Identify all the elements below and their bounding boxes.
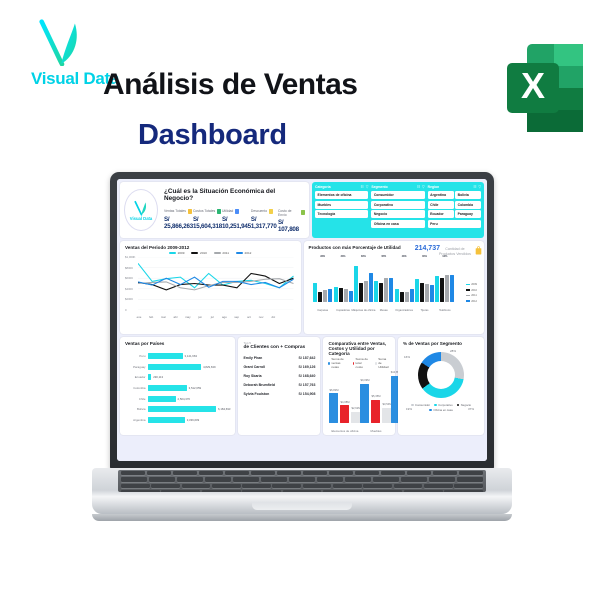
bar: 58% xyxy=(389,278,393,302)
compare-group: $6,82M$4,08M$2,62MElementos de oficina xyxy=(329,357,360,423)
bar: 45% xyxy=(379,283,383,302)
laptop-keyboard xyxy=(118,470,486,492)
keyboard-key xyxy=(444,490,483,492)
kpi-value: S/ 15,604,318 xyxy=(193,216,222,230)
keyboard-key xyxy=(323,490,362,492)
x-axis-tick: abr xyxy=(174,315,178,319)
dashboard-logo-text: Visual Data xyxy=(130,216,153,221)
keyboard-key xyxy=(283,490,322,492)
visual-data-mark-icon xyxy=(34,18,90,66)
bar-group: 46%25%28%32%Carpetas xyxy=(313,259,333,302)
country-bar xyxy=(148,417,185,423)
bar: 64% xyxy=(445,275,449,302)
bar: 58% xyxy=(384,278,388,302)
keyboard-key xyxy=(394,484,423,488)
country-label: Paraguay xyxy=(125,365,148,369)
poster-title: Análisis de Ventas xyxy=(103,68,357,102)
kpi-list: Ventas Totales S/ 25,866,263 Costos Tota… xyxy=(164,209,305,233)
keyboard-key xyxy=(225,471,249,475)
x-axis-tick: ago xyxy=(222,315,227,319)
keyboard-key xyxy=(289,477,315,481)
laptop-mockup: Visual Data ¿Cuál es la Situación Económ… xyxy=(92,172,512,532)
bar-group: 54%46%44%40%Tijeras xyxy=(414,259,434,302)
country-row: Ecuador290,113 xyxy=(125,372,230,383)
bar: 62% xyxy=(435,276,439,302)
legend-item: 2009 xyxy=(466,283,477,286)
slicer-item[interactable]: Argentina xyxy=(428,191,454,199)
bar-value: 32% xyxy=(320,255,325,258)
country-label: Chile xyxy=(125,397,148,401)
kpi-value: S/ 10,251,945 xyxy=(222,216,251,230)
keyboard-key xyxy=(121,471,145,475)
dashboard-logo-badge: Visual Data xyxy=(124,189,158,231)
kpi-item: Utilidad S/ 10,251,945 xyxy=(222,209,251,233)
keyboard-key xyxy=(373,477,399,481)
bar: 40% xyxy=(430,285,434,302)
slicer-title: Region xyxy=(428,185,440,189)
keyboard-key xyxy=(303,471,327,475)
dashboard-mid-row: Ventas del Periodo 2009-2012 20092010201… xyxy=(120,241,484,334)
keyboard-key xyxy=(345,477,371,481)
client-name: Emily Phan xyxy=(243,356,262,360)
country-row: Colombia3,512,659 xyxy=(125,383,230,394)
kpi-label: Utilidad xyxy=(222,209,233,213)
multiselect-icon[interactable]: ☷ xyxy=(417,185,420,189)
bar: 31% xyxy=(344,289,348,302)
bar: 50% xyxy=(374,281,378,302)
legend-item: 2009 xyxy=(169,251,184,255)
keyboard-key xyxy=(424,484,453,488)
keyboard-key xyxy=(121,477,147,481)
kpi-label: Ventas Totales xyxy=(164,209,186,213)
legend-item: 2012 xyxy=(236,251,251,255)
bar-group: 85%46%50%68%Máquinas de oficina xyxy=(353,259,373,302)
clear-filter-icon[interactable]: ▽ xyxy=(366,185,369,189)
country-row: Argentina3,339,609 xyxy=(125,415,230,426)
keyboard-key xyxy=(173,471,197,475)
bar: 58% xyxy=(440,278,444,302)
slicer-item[interactable]: Ecuador xyxy=(428,210,454,218)
slicer-item[interactable]: Oficina en casa xyxy=(371,220,424,228)
bar-value: 58% xyxy=(381,255,386,258)
bar: 50% xyxy=(364,281,368,302)
kpi-panel: Visual Data ¿Cuál es la Situación Económ… xyxy=(120,182,309,238)
client-name: Deborah Brumfield xyxy=(243,383,275,387)
countries-title: Ventas por Países xyxy=(125,341,230,346)
countries-panel: Ventas por Países Peru3,141,663Paraguay4… xyxy=(120,337,235,435)
bar: 44% xyxy=(425,284,429,302)
keyboard-key xyxy=(404,490,443,492)
keyboard-key xyxy=(251,471,275,475)
country-value: 2,504,376 xyxy=(176,397,190,401)
bar-value: 27% xyxy=(341,255,346,258)
visual-data-mark-icon xyxy=(133,200,150,216)
line-chart-panel: Ventas del Periodo 2009-2012 20092010201… xyxy=(120,241,301,334)
bar: 25% xyxy=(405,292,409,303)
keyboard-key xyxy=(149,477,175,481)
bar: 32% xyxy=(328,289,332,302)
keyboard-key xyxy=(333,484,362,488)
bar: 68% xyxy=(369,273,373,302)
segment-donut-panel: % de Ventas por Segmento ConsumidorCorpo… xyxy=(398,337,484,435)
keyboard-key xyxy=(121,484,150,488)
keyboard-key xyxy=(242,484,271,488)
country-bar xyxy=(148,385,187,391)
x-axis-tick: jun xyxy=(198,315,202,319)
bar: 24% xyxy=(400,292,404,302)
bar: 28% xyxy=(323,290,327,302)
bar-group: 62%58%64%64%Teléfonos xyxy=(435,259,455,302)
bar-group: 30%24%25%30%Organizadores xyxy=(394,259,414,302)
slicer-title: Categoría xyxy=(315,185,331,189)
grouped-bar-chart: 46%25%28%32%Carpetas36%34%31%27%Copiador… xyxy=(309,253,480,313)
x-axis-tick: mar xyxy=(161,315,166,319)
coin-icon xyxy=(188,209,192,214)
bar-group: 50%45%58%58%Mesas xyxy=(374,259,394,302)
slicer-item[interactable]: Negocio xyxy=(371,210,424,218)
compare-bar: $9,09M xyxy=(360,384,369,423)
bar: 30% xyxy=(395,289,399,302)
compare-bar: $3,54M xyxy=(382,408,391,423)
client-amount: S/ 169,126 xyxy=(299,365,316,369)
compare-bar: $2,62M xyxy=(351,412,360,423)
laptop-screen: Visual Data ¿Cuál es la Situación Económ… xyxy=(117,179,487,461)
donut-chart xyxy=(418,352,464,398)
bar-chart-panel: Productos con más Porcentaje de Utilidad… xyxy=(304,241,485,334)
compare-bar-value: $5,35M xyxy=(371,395,380,398)
slicer-item[interactable]: Colombia xyxy=(455,201,481,209)
country-value: 6,184,693 xyxy=(216,407,230,411)
legend-item: 2010 xyxy=(191,251,206,255)
bar: 27% xyxy=(349,291,353,302)
keyboard-key xyxy=(457,477,483,481)
y-axis-tick: 0 xyxy=(125,308,127,312)
slicer-region: Region ☷▽ Argentina Bolivia Chile Colomb… xyxy=(428,185,481,235)
compare-bar: $5,35M xyxy=(371,400,380,423)
client-amount: S/ 154,908 xyxy=(299,392,316,396)
keyboard-key xyxy=(329,471,353,475)
donut-value-label: 16% xyxy=(404,355,410,359)
compare-category-label: Elementos de oficina xyxy=(332,429,359,433)
kpi-item: Costos Totales S/ 15,604,318 xyxy=(193,209,222,233)
compare-category-label: Muebles xyxy=(370,429,381,433)
compare-bar-value: $3,54M xyxy=(382,403,391,406)
y-axis-tick: $600K xyxy=(125,276,133,280)
country-row: Chile2,504,376 xyxy=(125,393,230,404)
kpi-value: S/ 107,808 xyxy=(278,219,305,233)
client-name: Grant Carroll xyxy=(243,365,265,369)
x-axis-tick: may xyxy=(185,315,190,319)
laptop-foot xyxy=(92,514,512,521)
client-amount: S/ 157,763 xyxy=(299,383,316,387)
countries-bar-chart: Peru3,141,663Paraguay4,829,639Ecuador290… xyxy=(125,351,230,425)
slicer-segmento: Segmento ☷▽ Consumidor Corporativo Negoc… xyxy=(371,185,424,235)
bar-chart-legend: 2009201020112012 xyxy=(466,283,477,303)
donut-value-label: 37% xyxy=(468,407,474,411)
compare-panel: Comparativa entre Ventas, Costos y Utili… xyxy=(323,337,395,435)
clear-filter-icon[interactable]: ▽ xyxy=(478,185,481,189)
kpi-label: Costos Totales xyxy=(193,209,215,213)
y-axis-tick: $400K xyxy=(125,287,133,291)
svg-text:X: X xyxy=(521,65,545,106)
dashboard: Visual Data ¿Cuál es la Situación Económ… xyxy=(117,179,487,461)
bar-value: 64% xyxy=(442,255,447,258)
compare-group: $9,09M$5,35M$3,54MMuebles xyxy=(360,357,391,423)
slicer-item[interactable]: Chile xyxy=(428,201,454,209)
country-value: 4,829,639 xyxy=(201,365,215,369)
kpi-value: S/ 1,317,770 xyxy=(251,216,278,230)
tag-icon xyxy=(269,209,273,214)
country-bar xyxy=(148,364,201,370)
line-chart-title: Ventas del Periodo 2009-2012 xyxy=(125,245,296,250)
donut-value-label: 28% xyxy=(450,349,456,353)
country-label: Peru xyxy=(125,354,148,358)
bar: 54% xyxy=(415,279,419,302)
bar: 46% xyxy=(420,283,424,302)
y-axis-tick: $1,000K xyxy=(125,255,135,259)
legend-item: 2011 xyxy=(214,251,229,255)
keyboard-key xyxy=(177,477,203,481)
country-row: Bolivia6,184,693 xyxy=(125,404,230,415)
compare-bar-value: $9,09M xyxy=(360,379,369,382)
keyboard-key xyxy=(429,477,455,481)
country-label: Argentina xyxy=(125,418,148,422)
bar: 36% xyxy=(334,287,338,302)
keyboard-key xyxy=(121,490,160,492)
keyboard-key xyxy=(205,477,231,481)
keyboard-key xyxy=(277,471,301,475)
keyboard-key xyxy=(303,484,332,488)
keyboard-key xyxy=(401,477,427,481)
poster-subtitle: Dashboard xyxy=(138,119,287,152)
keyboard-key xyxy=(381,471,405,475)
country-bar xyxy=(148,406,216,412)
bar: 64% xyxy=(450,275,454,302)
legend-item: 2010 xyxy=(466,289,477,292)
line-chart-legend: 2009201020112012 xyxy=(125,251,296,255)
bar: 46% xyxy=(359,283,363,302)
compare-bar: $4,08M xyxy=(340,405,349,423)
country-bar xyxy=(148,353,183,359)
compare-bar-value: $6,82M xyxy=(329,389,338,392)
kpi-label: Costo de Envío xyxy=(278,209,299,217)
keyboard-key xyxy=(151,484,180,488)
legend-item: Consumidor xyxy=(411,403,430,407)
keyboard-key xyxy=(317,477,343,481)
country-row: Paraguay4,829,639 xyxy=(125,362,230,373)
keyboard-key xyxy=(454,484,483,488)
bar: 30% xyxy=(410,289,414,302)
compare-bar-value: $4,08M xyxy=(340,401,349,404)
bar: 85% xyxy=(354,266,358,302)
top-client-row: Roy SkariaS/ 168,640 xyxy=(243,371,315,380)
bar-group: 36%34%31%27%Copiadoras xyxy=(333,259,353,302)
laptop-trackpad xyxy=(252,502,352,510)
slicer-item[interactable]: Corporativo xyxy=(371,201,424,209)
legend-item: 2012 xyxy=(466,300,477,303)
bar: 46% xyxy=(313,283,317,302)
dashboard-bottom-row: Ventas por Países Peru3,141,663Paraguay4… xyxy=(120,337,484,435)
keyboard-key xyxy=(233,477,259,481)
country-value: 3,141,663 xyxy=(183,354,197,358)
keyboard-key xyxy=(433,471,457,475)
kpi-item: Descuento S/ 1,317,770 xyxy=(251,209,278,233)
slicer-title: Segmento xyxy=(371,185,387,189)
top-clients-title: de Clientes con + Compras xyxy=(243,345,315,350)
gift-icon xyxy=(235,209,239,214)
x-axis-tick: jul xyxy=(211,315,214,319)
slicer-item[interactable]: Elementos de oficina xyxy=(315,191,368,199)
bar-category-label: Teléfonos xyxy=(432,309,458,312)
slicer-item[interactable]: Peru xyxy=(428,220,481,228)
slicer-item[interactable]: Paraguay xyxy=(455,210,481,218)
x-axis-tick: oct xyxy=(247,315,251,319)
y-axis-tick: $200K xyxy=(125,297,133,301)
keyboard-key xyxy=(363,484,392,488)
keyboard-key xyxy=(459,471,483,475)
country-bar xyxy=(148,396,176,402)
client-amount: S/ 168,640 xyxy=(299,374,316,378)
donut-value-label: 19% xyxy=(406,407,412,411)
compare-bar-value: $2,62M xyxy=(351,407,360,410)
country-label: Colombia xyxy=(125,386,148,390)
top-client-row: Sylvia FoulstonS/ 154,908 xyxy=(243,390,315,399)
top-client-row: Emily PhanS/ 187,642 xyxy=(243,353,315,362)
kpi-item: Ventas Totales S/ 25,866,263 xyxy=(164,209,193,233)
kpi-label: Descuento xyxy=(251,209,267,213)
keyboard-key xyxy=(161,490,200,492)
slicer-item[interactable]: Muebles xyxy=(315,201,368,209)
client-name: Roy Skaria xyxy=(243,374,261,378)
keyboard-key xyxy=(199,471,223,475)
laptop-lid: Visual Data ¿Cuál es la Situación Económ… xyxy=(110,172,494,470)
country-row: Peru3,141,663 xyxy=(125,351,230,362)
x-axis-tick: nov xyxy=(259,315,264,319)
compare-bar: $6,82M xyxy=(329,393,338,423)
x-axis-tick: sep xyxy=(234,315,239,319)
dashboard-header-row: Visual Data ¿Cuál es la Situación Económ… xyxy=(120,182,484,238)
bar: 25% xyxy=(318,292,322,303)
kpi-item: Costo de Envío S/ 107,808 xyxy=(278,209,305,233)
legend-item: Corporativo xyxy=(434,403,453,407)
slicer-item[interactable]: Tecnología xyxy=(315,210,368,218)
keyboard-key xyxy=(242,490,281,492)
keyboard-key xyxy=(202,490,241,492)
bar-value: 30% xyxy=(402,255,407,258)
keyboard-key xyxy=(212,484,241,488)
x-axis-tick: feb xyxy=(149,315,153,319)
slicer-categoria: Categoría ☷▽ Elementos de oficina Mueble… xyxy=(315,185,368,235)
x-axis-tick: dic xyxy=(271,315,275,319)
x-axis-tick: ene xyxy=(137,315,142,319)
poster-canvas: Visual Data Análisis de Ventas Dashboard… xyxy=(0,0,600,600)
chart-icon xyxy=(217,209,221,214)
keyboard-key xyxy=(272,484,301,488)
keyboard-key xyxy=(261,477,287,481)
country-label: Ecuador xyxy=(125,375,148,379)
keyboard-key xyxy=(355,471,379,475)
keyboard-key xyxy=(407,471,431,475)
slicer-item[interactable]: Consumidor xyxy=(371,191,424,199)
keyboard-key xyxy=(147,471,171,475)
bar-value: 40% xyxy=(422,255,427,258)
dashboard-question: ¿Cuál es la Situación Económica del Nego… xyxy=(164,188,305,202)
excel-logo-icon: X xyxy=(507,40,585,136)
country-value: 3,512,659 xyxy=(187,386,201,390)
top-clients-panel: Top 5 de Clientes con + Compras Emily Ph… xyxy=(238,337,320,435)
multiselect-icon[interactable]: ☷ xyxy=(473,185,476,189)
country-value: 3,339,609 xyxy=(185,418,199,422)
slicer-panel: Categoría ☷▽ Elementos de oficina Mueble… xyxy=(312,182,484,238)
clear-filter-icon[interactable]: ▽ xyxy=(422,185,425,189)
bar: 34% xyxy=(339,288,343,302)
y-axis-tick: $800K xyxy=(125,266,133,270)
client-name: Sylvia Foulston xyxy=(243,392,269,396)
compare-bar-chart: $6,82M$4,08M$2,62MElementos de oficina$9… xyxy=(329,357,391,423)
kpi-value: S/ 25,866,263 xyxy=(164,216,193,230)
donut-title: % de Ventas por Segmento xyxy=(403,341,479,346)
truck-icon xyxy=(301,210,305,215)
country-label: Bolivia xyxy=(125,407,148,411)
compare-title: Comparativa entre Ventas, Costos y Utili… xyxy=(328,341,390,356)
legend-item: 2011 xyxy=(466,294,477,297)
keyboard-key xyxy=(182,484,211,488)
slicer-item[interactable]: Bolivia xyxy=(455,191,481,199)
client-amount: S/ 187,642 xyxy=(299,356,316,360)
legend-item: Oficina en casa xyxy=(429,408,452,412)
country-value: 290,113 xyxy=(151,375,163,379)
top-client-row: Grant CarrollS/ 169,126 xyxy=(243,362,315,371)
top-client-row: Deborah BrumfieldS/ 157,763 xyxy=(243,381,315,390)
bar-value: 68% xyxy=(361,255,366,258)
multiselect-icon[interactable]: ☷ xyxy=(361,185,364,189)
line-chart: 0$200K$400K$600K$800K$1,000Kenefebmarabr… xyxy=(125,257,296,319)
keyboard-key xyxy=(363,490,402,492)
